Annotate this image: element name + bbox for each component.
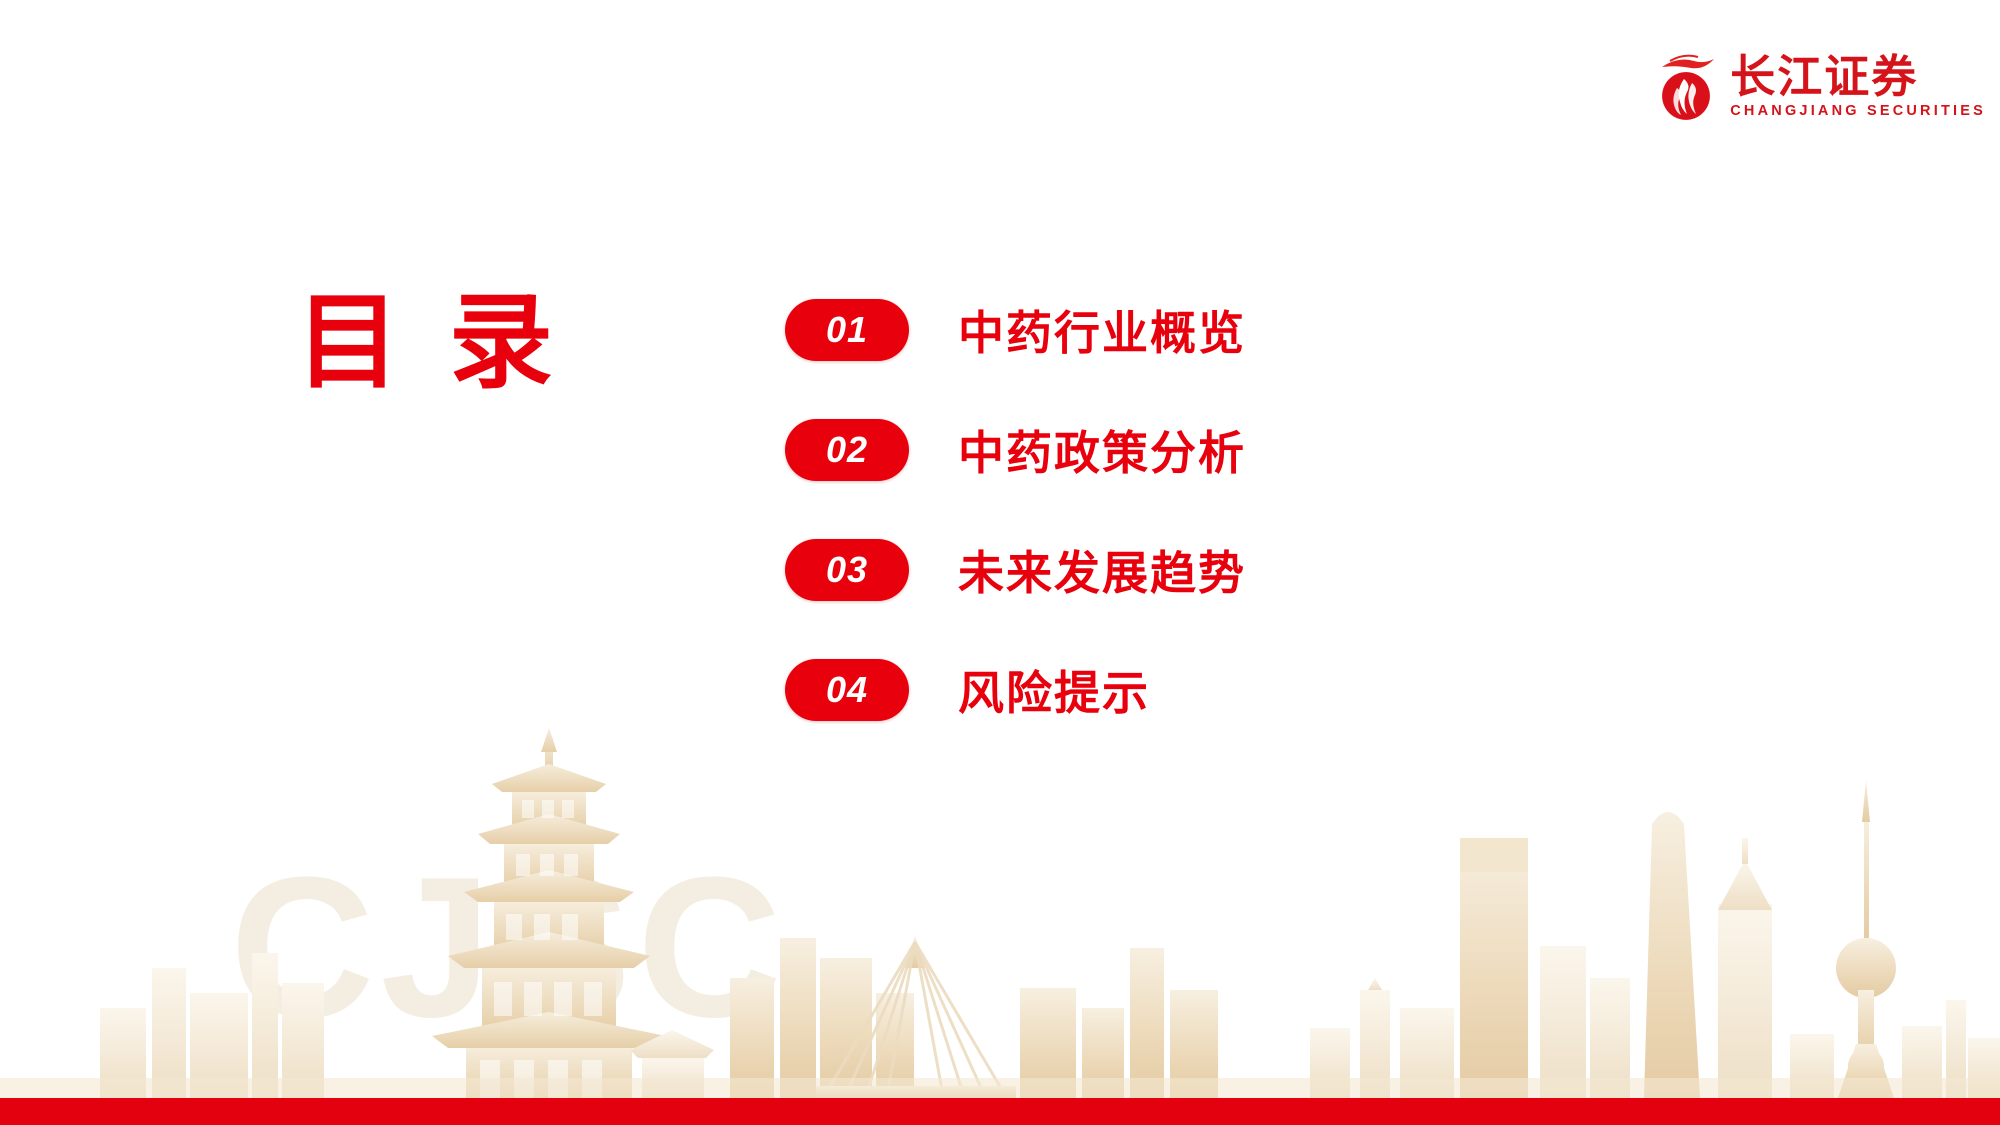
toc-item-03[interactable]: 03 未来发展趋势: [785, 538, 1685, 602]
logo-english-name: CHANGJIANG SECURITIES: [1730, 103, 1986, 119]
company-logo: 长江证券 CHANGJIANG SECURITIES: [1658, 50, 1986, 122]
shanghai-tower-shape: [1644, 812, 1700, 1098]
table-of-contents: 01 中药行业概览 02 中药政策分析 03 未来发展趋势 04 风险提示: [785, 298, 1685, 778]
toc-section-label: 风险提示: [958, 657, 1150, 723]
pagoda-shape: [432, 728, 666, 1098]
toc-number-badge: 02: [785, 419, 909, 481]
oriental-pearl-shape: [1836, 780, 1896, 1098]
bottom-accent-bar: [0, 1098, 2000, 1125]
toc-section-label: 中药行业概览: [958, 297, 1246, 363]
changjiang-emblem-icon: [1658, 50, 1720, 122]
cjsc-watermark-text: CJSC: [230, 833, 788, 1063]
toc-item-02[interactable]: 02 中药政策分析: [785, 418, 1685, 482]
toc-number-label: 02: [826, 429, 868, 471]
toc-section-label: 未来发展趋势: [958, 537, 1246, 603]
toc-number-badge: 04: [785, 659, 909, 721]
toc-item-01[interactable]: 01 中药行业概览: [785, 298, 1685, 362]
toc-item-04[interactable]: 04 风险提示: [785, 658, 1685, 722]
slide-canvas: CJSC: [0, 0, 2000, 1125]
toc-number-label: 01: [826, 309, 868, 351]
bridge-shape: [816, 936, 1016, 1098]
toc-section-label: 中药政策分析: [958, 417, 1246, 483]
toc-number-label: 03: [826, 549, 868, 591]
page-title: 目 录: [296, 286, 563, 400]
toc-number-label: 04: [826, 669, 868, 711]
toc-number-badge: 01: [785, 299, 909, 361]
toc-number-badge: 03: [785, 539, 909, 601]
logo-chinese-name: 长江证券: [1730, 54, 1918, 99]
